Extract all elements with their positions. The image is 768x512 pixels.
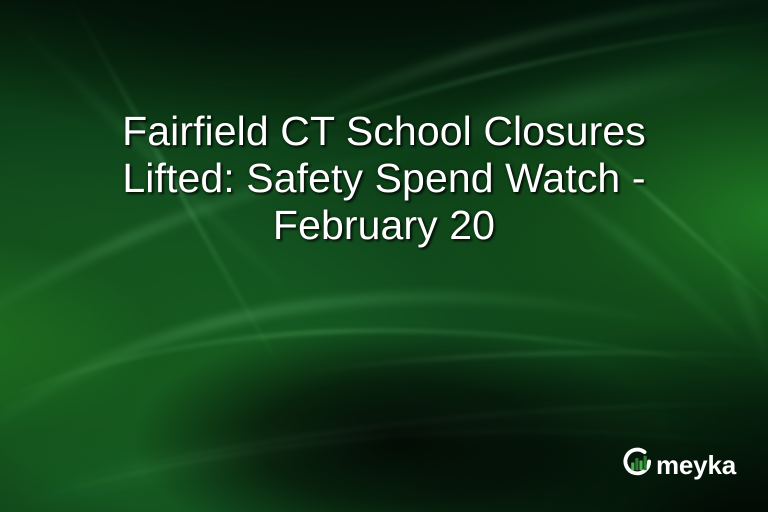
title-block: Fairfield CT School Closures Lifted: Saf… xyxy=(0,108,768,249)
background-vignette xyxy=(0,0,768,512)
background-corner-shadow xyxy=(0,0,768,512)
background-glow-left xyxy=(0,0,768,512)
page-title: Fairfield CT School Closures Lifted: Saf… xyxy=(26,108,742,249)
brand-wordmark: meyka xyxy=(656,452,736,478)
circle-bar-chart-icon xyxy=(622,446,653,482)
brand-logo[interactable]: meyka xyxy=(622,446,736,482)
background-base-gradient xyxy=(0,0,768,512)
background-glow-right xyxy=(0,0,768,512)
background-light-streaks xyxy=(0,0,768,512)
banner-canvas: Fairfield CT School Closures Lifted: Saf… xyxy=(0,0,768,512)
background-center-shadow xyxy=(0,0,768,512)
background-top-shadow xyxy=(0,0,768,512)
